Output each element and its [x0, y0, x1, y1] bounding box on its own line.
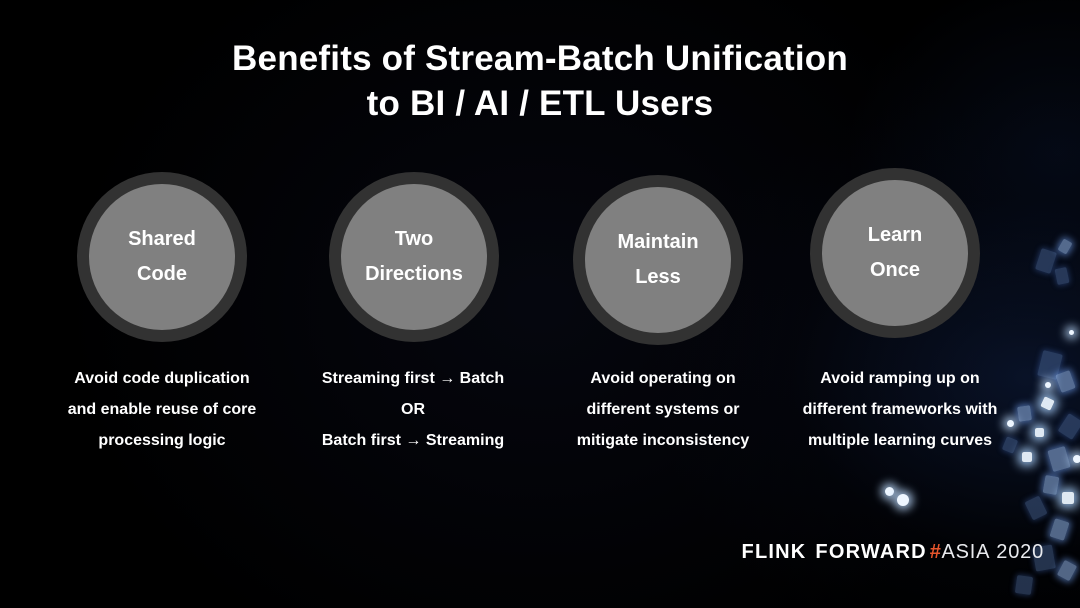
caption-two-directions: Streaming first → Batch OR Batch first →…	[293, 363, 533, 456]
circle-maintain-less: Maintain Less	[585, 187, 731, 333]
caption-line: Streaming first → Batch	[293, 363, 533, 394]
presentation-slide: Benefits of Stream-Batch Unification to …	[0, 0, 1080, 608]
caption-line: and enable reuse of core	[42, 394, 282, 425]
circle-label-line: Shared	[128, 222, 196, 257]
caption-line: OR	[293, 394, 533, 425]
caption-line: Batch first → Streaming	[293, 425, 533, 456]
caption-line: mitigate inconsistency	[543, 425, 783, 456]
caption-line: processing logic	[42, 425, 282, 456]
caption-line: Avoid ramping up on	[775, 363, 1025, 394]
circle-learn-once: Learn Once	[822, 180, 968, 326]
circle-shared-code: Shared Code	[89, 184, 235, 330]
flink-forward-asia-logo: FLINK FORWARD # ASIA 2020	[742, 541, 1044, 564]
caption-line: different frameworks with	[775, 394, 1025, 425]
circle-label-line: Once	[870, 253, 920, 288]
caption-line: multiple learning curves	[775, 425, 1025, 456]
logo-flink-text: FLINK	[742, 541, 807, 564]
circle-label-line: Two	[395, 222, 434, 257]
logo-asia-text: ASIA	[942, 541, 991, 564]
caption-line: Avoid code duplication	[42, 363, 282, 394]
caption-line: Avoid operating on	[543, 363, 783, 394]
caption-line: different systems or	[543, 394, 783, 425]
circle-label-line: Code	[137, 257, 187, 292]
circle-label-line: Maintain	[617, 225, 698, 260]
benefit-pillars: Shared Code Avoid code duplication and e…	[0, 0, 1080, 608]
circle-label-line: Less	[635, 260, 681, 295]
circle-two-directions: Two Directions	[341, 184, 487, 330]
logo-forward-text: FORWARD	[815, 541, 926, 564]
caption-shared-code: Avoid code duplication and enable reuse …	[42, 363, 282, 456]
logo-hash-icon: #	[930, 541, 942, 564]
circle-label-line: Directions	[365, 257, 463, 292]
logo-year-text: 2020	[996, 541, 1044, 564]
caption-learn-once: Avoid ramping up on different frameworks…	[775, 363, 1025, 456]
caption-maintain-less: Avoid operating on different systems or …	[543, 363, 783, 456]
circle-label-line: Learn	[868, 218, 922, 253]
